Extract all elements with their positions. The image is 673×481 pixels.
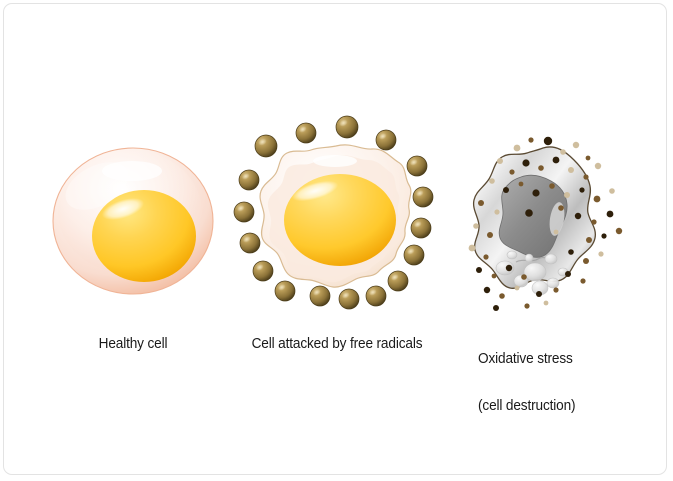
oxidative-damage-dot	[609, 188, 615, 194]
free-radical-sphere	[339, 289, 359, 309]
free-radical-sphere	[366, 286, 386, 306]
free-radical-sphere	[404, 245, 424, 265]
oxidative-damage-dot	[528, 137, 533, 142]
oxidative-damage-dot	[560, 149, 566, 155]
oxidative-damage-dot	[489, 178, 495, 184]
oxidative-damage-dot	[469, 245, 476, 252]
oxidative-damage-dot	[595, 163, 601, 169]
oxidative-damage-dot	[473, 223, 479, 229]
free-radical-sphere	[255, 135, 277, 157]
oxidative-damage-dot	[478, 200, 484, 206]
attacked-cell-membrane-highlight	[313, 155, 357, 167]
healthy-cell-illustration	[53, 148, 213, 294]
cell-debris-fragment	[524, 263, 546, 281]
oxidative-damage-dot	[568, 167, 574, 173]
caption-oxidative-stress: Oxidative stress (cell destruction)	[478, 321, 657, 445]
free-radical-sphere	[411, 218, 431, 238]
free-radical-sphere	[336, 116, 358, 138]
oxidative-damage-dot	[607, 211, 614, 218]
cell-debris-fragment	[525, 254, 533, 262]
oxidative-damage-dot	[583, 174, 588, 179]
caption-oxidative-line-1: Oxidative stress	[478, 352, 657, 368]
oxidative-damage-dot	[564, 192, 570, 198]
oxidative-damage-dot	[483, 254, 488, 259]
cell-debris-fragment	[507, 251, 517, 259]
oxidative-damage-dot	[580, 278, 585, 283]
free-radical-sphere	[239, 170, 259, 190]
oxidative-damage-dot	[521, 274, 527, 280]
oxidative-damage-dot	[594, 196, 601, 203]
oxidative-damage-dot	[598, 251, 603, 256]
oxidative-damage-dot	[549, 183, 555, 189]
oxidative-damage-dot	[575, 213, 581, 219]
caption-attacked-cell: Cell attacked by free radicals	[235, 337, 440, 353]
cell-debris-fragment	[545, 254, 557, 264]
oxidative-damage-dot	[558, 205, 564, 211]
free-radical-sphere	[296, 123, 316, 143]
oxidative-damage-dot	[565, 271, 571, 277]
oxidative-damage-dot	[524, 303, 529, 308]
oxidative-damage-dot	[586, 156, 591, 161]
oxidative-damage-dot	[553, 157, 560, 164]
oxidative-damage-dot	[492, 274, 497, 279]
oxidative-damage-dot	[579, 187, 584, 192]
oxidative-damage-dot	[515, 286, 520, 291]
oxidative-damage-dot	[568, 249, 574, 255]
free-radical-sphere	[376, 130, 396, 150]
oxidative-damage-dot	[554, 230, 559, 235]
free-radical-sphere	[240, 233, 260, 253]
caption-healthy-cell: Healthy cell	[8, 337, 258, 353]
oxidative-damage-dot	[583, 258, 589, 264]
oxidative-damage-dot	[616, 228, 622, 234]
oxidative-damage-dot	[553, 287, 558, 292]
oxidative-damage-dot	[544, 301, 549, 306]
oxidative-damage-dot	[497, 158, 503, 164]
oxidative-damage-dot	[487, 232, 493, 238]
oxidative-damage-dot	[536, 291, 542, 297]
free-radical-sphere	[388, 271, 408, 291]
attacked-cell-nucleus	[284, 174, 396, 266]
oxidative-damage-dot	[522, 159, 529, 166]
oxidative-damage-dot	[514, 145, 521, 152]
free-radical-sphere	[275, 281, 295, 301]
oxidative-damage-dot	[499, 293, 505, 299]
oxidative-damage-dot	[476, 267, 482, 273]
oxidative-damage-dot	[506, 265, 512, 271]
oxidative-damage-dot	[494, 209, 499, 214]
oxidative-damage-dot	[532, 189, 539, 196]
oxidative-damage-dot	[484, 287, 490, 293]
oxidative-damage-dot	[544, 137, 552, 145]
free-radical-sphere	[234, 202, 254, 222]
oxidative-damage-dot	[519, 182, 524, 187]
free-radical-sphere	[413, 187, 433, 207]
attacked-cell-illustration	[234, 116, 433, 309]
free-radical-sphere	[253, 261, 273, 281]
free-radical-sphere	[407, 156, 427, 176]
oxidative-damage-dot	[586, 237, 592, 243]
oxidative-stress-illustration	[469, 137, 623, 311]
oxidative-damage-dot	[493, 305, 499, 311]
oxidative-damage-dot	[573, 142, 579, 148]
caption-oxidative-line-2: (cell destruction)	[478, 399, 657, 415]
free-radical-sphere	[310, 286, 330, 306]
oxidative-damage-dot	[509, 169, 514, 174]
oxidative-damage-dot	[525, 209, 533, 217]
cell-debris-fragment	[547, 278, 559, 288]
oxidative-damage-dot	[503, 187, 509, 193]
figure-root: Healthy cell Cell attacked by free radic…	[0, 0, 673, 481]
oxidative-damage-dot	[601, 233, 606, 238]
oxidative-damage-dot	[591, 219, 596, 224]
oxidative-damage-dot	[538, 165, 544, 171]
